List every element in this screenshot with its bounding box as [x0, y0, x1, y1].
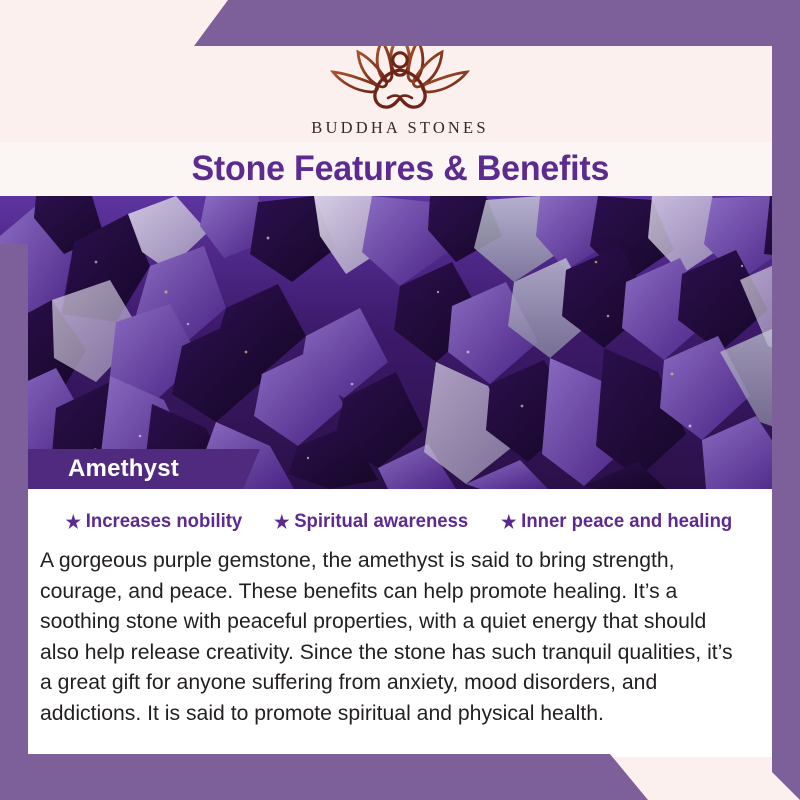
frame-border-left	[0, 244, 28, 800]
benefit-label: Inner peace and healing	[522, 510, 733, 533]
frame-border-bottom	[0, 754, 800, 800]
benefit-item-2: ★ Inner peace and healing	[502, 510, 733, 533]
stone-name-ribbon: Amethyst	[28, 449, 260, 489]
benefit-label: Increases nobility	[86, 510, 242, 533]
frame-border-right	[772, 0, 800, 800]
stone-name-label: Amethyst	[28, 455, 179, 483]
star-icon: ★	[66, 513, 81, 531]
star-icon: ★	[274, 513, 289, 531]
page-title: Stone Features & Benefits	[191, 149, 609, 189]
amethyst-crystal-cluster-photo	[0, 196, 800, 489]
content-panel: ★ Increases nobility ★ Spiritual awarene…	[28, 489, 772, 757]
brand-wordmark: BUDDHA STONES	[0, 118, 800, 138]
benefits-list: ★ Increases nobility ★ Spiritual awarene…	[28, 489, 772, 533]
title-bar: Stone Features & Benefits	[0, 142, 800, 196]
stone-description: A gorgeous purple gemstone, the amethyst…	[40, 545, 749, 728]
benefit-label: Spiritual awareness	[294, 510, 468, 533]
benefit-item-1: ★ Spiritual awareness	[274, 510, 468, 533]
star-icon: ★	[502, 513, 517, 531]
benefit-item-0: ★ Increases nobility	[66, 510, 243, 533]
stone-benefits-infographic: BUDDHA STONES Stone Features & Benefits …	[0, 0, 800, 800]
